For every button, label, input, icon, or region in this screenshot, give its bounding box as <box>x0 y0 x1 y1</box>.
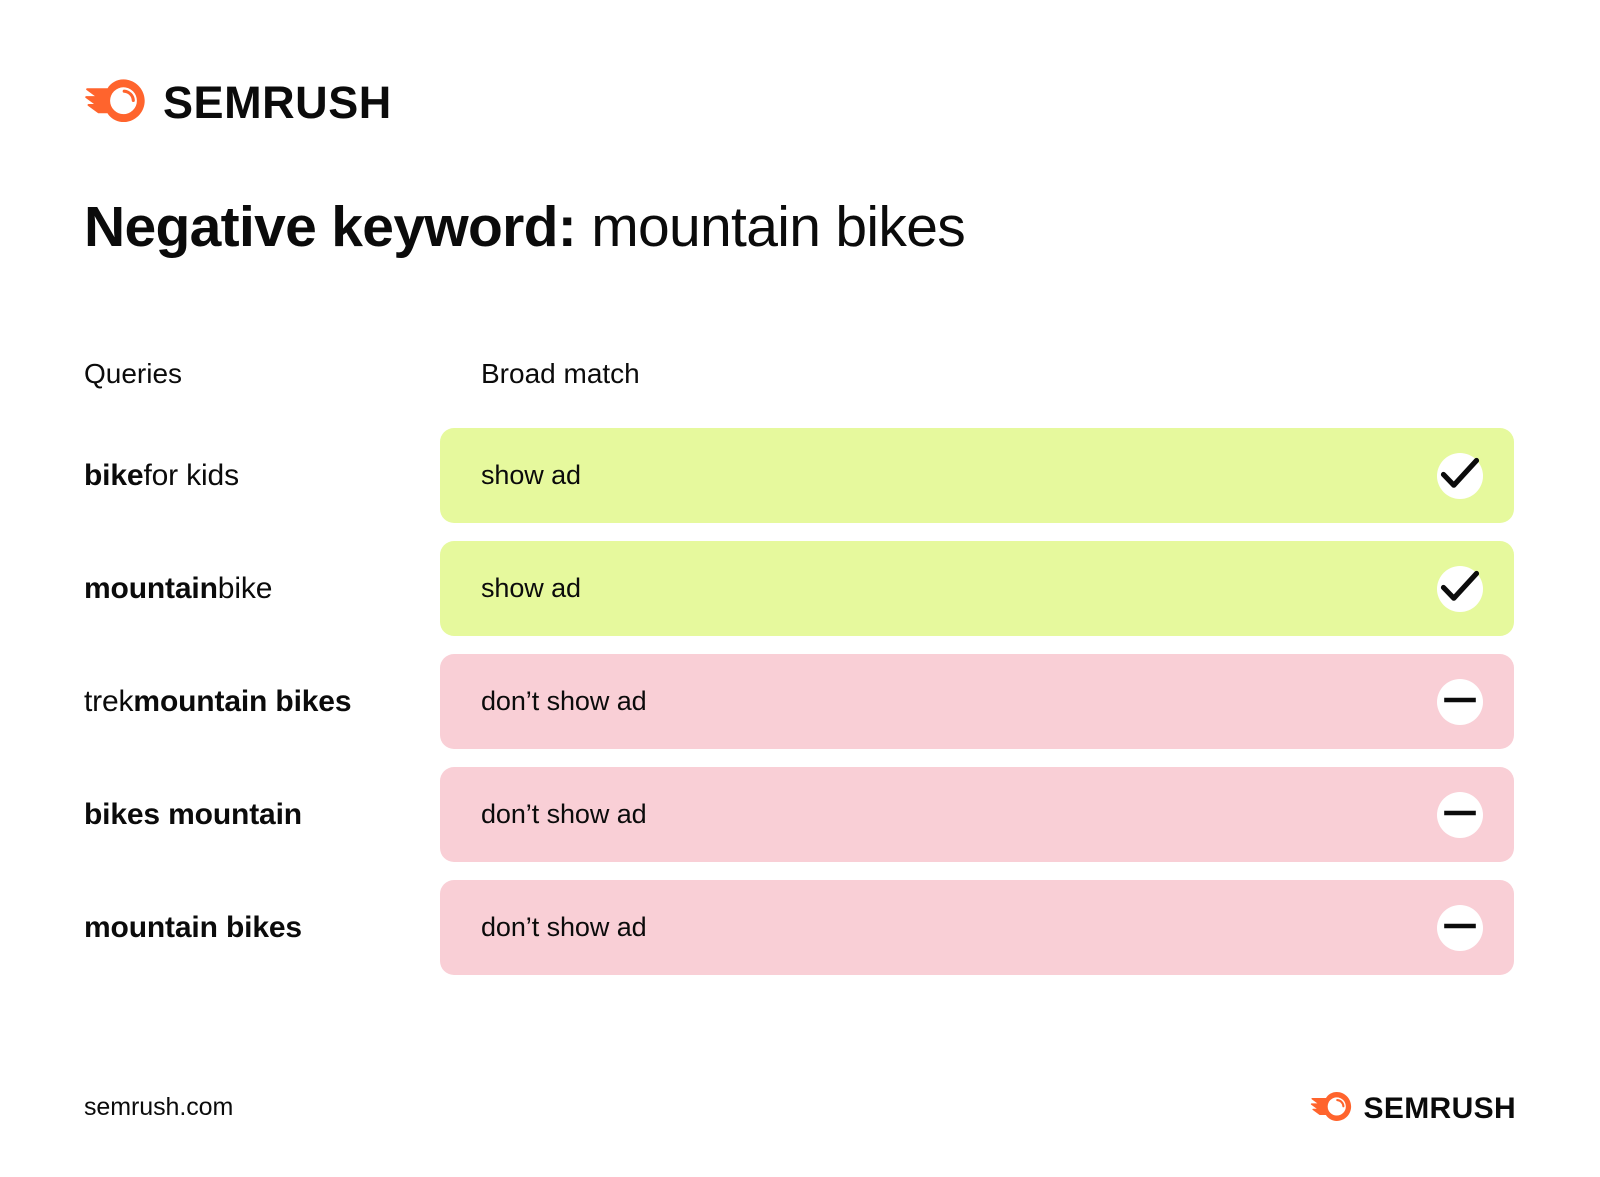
table-body: bike for kids show ad mountain bike <box>84 428 1514 975</box>
query-label: mountain bike <box>84 541 440 636</box>
match-result-bar: don’t show ad <box>440 880 1514 975</box>
match-result-bar: don’t show ad <box>440 767 1514 862</box>
semrush-comet-logo-icon <box>84 78 146 127</box>
match-result-label: show ad <box>481 573 581 604</box>
query-label: trek mountain bikes <box>84 654 440 749</box>
table-row: trek mountain bikes don’t show ad <box>84 654 1514 749</box>
column-header-queries: Queries <box>84 358 440 390</box>
match-result-bar: don’t show ad <box>440 654 1514 749</box>
minus-icon <box>1437 792 1483 838</box>
match-result-bar: show ad <box>440 428 1514 523</box>
brand-wordmark: SEMRUSH <box>163 80 392 125</box>
footer-url: semrush.com <box>84 1093 233 1122</box>
table-row: bike for kids show ad <box>84 428 1514 523</box>
infographic-page: SEMRUSH Negative keyword: mountain bikes… <box>0 0 1600 1177</box>
check-icon <box>1437 566 1483 612</box>
query-highlight: mountain bikes <box>133 684 351 720</box>
semrush-comet-logo-icon <box>1310 1091 1352 1126</box>
brand-wordmark: SEMRUSH <box>1363 1094 1516 1124</box>
query-highlight: bikes mountain <box>84 797 302 833</box>
match-result-label: show ad <box>481 460 581 491</box>
query-label: bike for kids <box>84 428 440 523</box>
table-row: bikes mountain don’t show ad <box>84 767 1514 862</box>
check-icon <box>1437 453 1483 499</box>
query-suffix: for kids <box>143 458 239 494</box>
footer-brand: SEMRUSH <box>1310 1091 1516 1126</box>
page-title: Negative keyword: mountain bikes <box>84 196 965 260</box>
minus-icon <box>1437 905 1483 951</box>
match-result-bar: show ad <box>440 541 1514 636</box>
table-row: mountain bike show ad <box>84 541 1514 636</box>
match-result-label: don’t show ad <box>481 686 647 717</box>
query-highlight: mountain <box>84 571 218 607</box>
query-label: mountain bikes <box>84 880 440 975</box>
query-suffix: bike <box>218 571 272 607</box>
minus-icon <box>1437 679 1483 725</box>
match-table: Queries Broad match bike for kids show a… <box>84 358 1514 975</box>
query-highlight: mountain bikes <box>84 910 302 946</box>
query-highlight: bike <box>84 458 143 494</box>
table-row: mountain bikes don’t show ad <box>84 880 1514 975</box>
page-title-bold: Negative keyword: <box>84 195 576 259</box>
column-header-broad-match: Broad match <box>440 358 640 390</box>
query-prefix: trek <box>84 684 133 720</box>
match-result-label: don’t show ad <box>481 912 647 943</box>
brand-header: SEMRUSH <box>84 78 392 127</box>
match-result-label: don’t show ad <box>481 799 647 830</box>
page-title-normal: mountain bikes <box>576 195 965 259</box>
table-header-row: Queries Broad match <box>84 358 1514 406</box>
query-label: bikes mountain <box>84 767 440 862</box>
